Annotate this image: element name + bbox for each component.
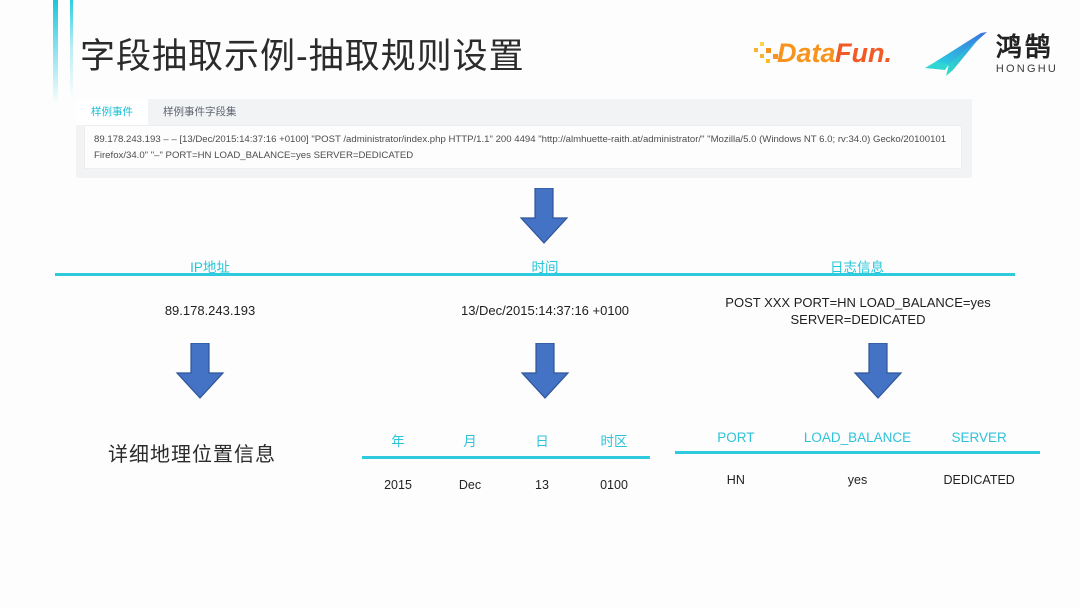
page-title: 字段抽取示例-抽取规则设置: [80, 33, 525, 81]
value-loginfo-line2: SERVER=DEDICATED: [718, 311, 998, 328]
arrow-down-main: [518, 188, 570, 249]
log-table-header-row: PORT LOAD_BALANCE SERVER: [675, 430, 1040, 451]
honghu-bird-icon: [919, 30, 991, 78]
sample-event-panel: 样例事件 样例事件字段集 89.178.243.193 – – [13/Dec/…: [76, 99, 972, 178]
time-col-day: 日: [506, 430, 578, 456]
table-row: HN yes DEDICATED: [675, 454, 1040, 487]
honghu-name-cn: 鸿鹄: [996, 34, 1054, 60]
time-value-month: Dec: [434, 478, 506, 492]
honghu-logo: 鸿鹄 HONGHU: [919, 30, 1058, 78]
log-col-load-balance: LOAD_BALANCE: [797, 430, 919, 451]
svg-text:Data: Data: [777, 38, 836, 68]
svg-text:Fun.: Fun.: [835, 38, 892, 68]
time-value-day: 13: [506, 478, 578, 492]
time-table-header-row: 年 月 日 时区: [362, 430, 650, 456]
accent-bar-thick: [53, 0, 58, 104]
table-row: 2015 Dec 13 0100: [362, 459, 650, 492]
time-col-month: 月: [434, 430, 506, 456]
arrow-down-time: [519, 343, 571, 404]
log-value-port: HN: [675, 473, 797, 487]
slide-canvas: 字段抽取示例-抽取规则设置 Data Fun.: [0, 0, 1080, 608]
log-col-server: SERVER: [918, 430, 1040, 451]
accent-bar-thin: [70, 0, 73, 100]
arrow-down-ip: [174, 343, 226, 404]
value-loginfo: POST XXX PORT=HN LOAD_BALANCE=yes SERVER…: [718, 294, 998, 328]
log-value-server: DEDICATED: [918, 473, 1040, 487]
arrow-down-loginfo: [852, 343, 904, 404]
datafun-logo: Data Fun.: [753, 35, 903, 74]
value-time: 13/Dec/2015:14:37:16 +0100: [425, 302, 665, 319]
log-value-load-balance: yes: [797, 473, 919, 487]
tab-strip: 样例事件 样例事件字段集: [76, 99, 252, 125]
tab-sample-event-fieldset[interactable]: 样例事件字段集: [148, 99, 252, 125]
log-line-text: 89.178.243.193 – – [13/Dec/2015:14:37:16…: [94, 132, 952, 163]
time-field-table: 年 月 日 时区 2015 Dec 13 0100: [362, 430, 650, 492]
tab-sample-event[interactable]: 样例事件: [76, 99, 148, 125]
log-box: 89.178.243.193 – – [13/Dec/2015:14:37:16…: [84, 125, 962, 169]
datafun-dots: [754, 42, 778, 63]
honghu-name-en: HONGHU: [996, 64, 1058, 75]
log-col-port: PORT: [675, 430, 797, 451]
value-ip: 89.178.243.193: [125, 302, 295, 319]
time-col-year: 年: [362, 430, 434, 456]
logo-zone: Data Fun.: [753, 30, 1058, 78]
time-col-timezone: 时区: [578, 430, 650, 456]
time-value-year: 2015: [362, 478, 434, 492]
time-value-timezone: 0100: [578, 478, 650, 492]
value-loginfo-line1: POST XXX PORT=HN LOAD_BALANCE=yes: [718, 294, 998, 311]
category-rule: [55, 273, 1015, 276]
log-field-table: PORT LOAD_BALANCE SERVER HN yes DEDICATE…: [675, 430, 1040, 487]
geo-result-text: 详细地理位置信息: [108, 438, 276, 467]
